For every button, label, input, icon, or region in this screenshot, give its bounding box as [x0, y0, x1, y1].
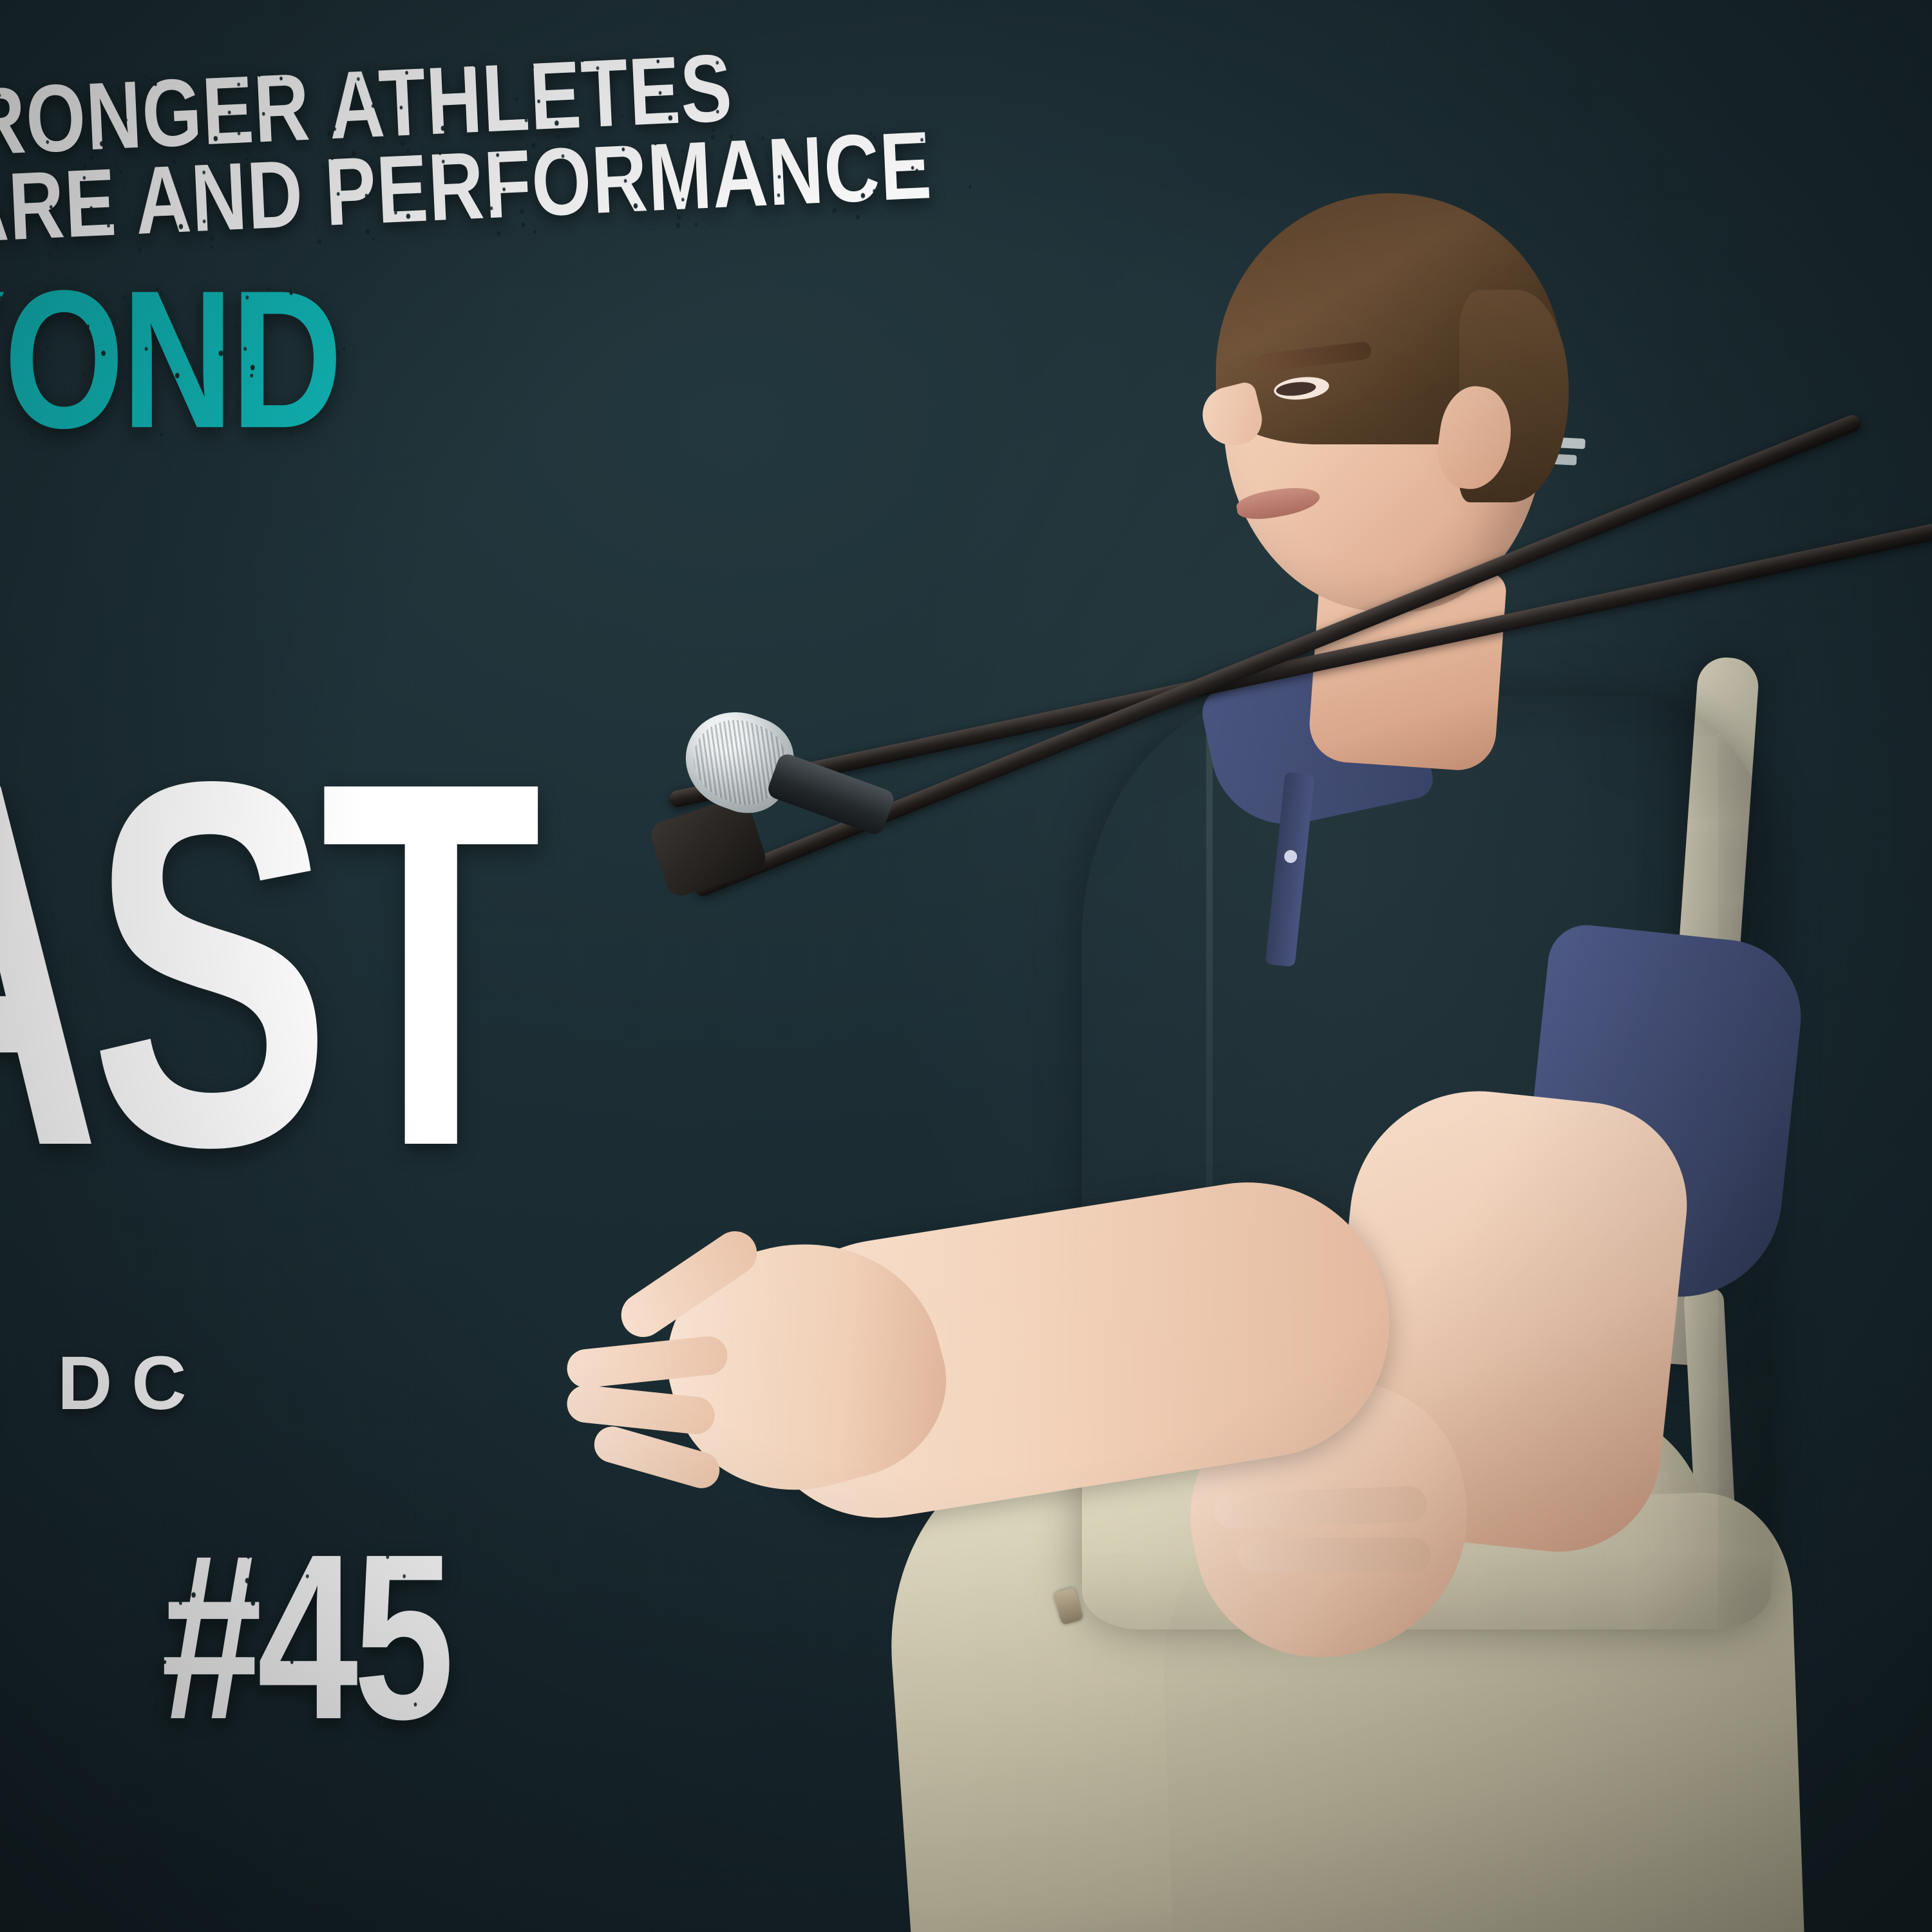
title-block: TRONGER ATHLETES CARE AND PERFORMANCE YO… — [0, 0, 1385, 1932]
brand-word: YOND — [0, 269, 340, 450]
show-word: AST — [0, 757, 531, 1172]
podcast-thumbnail: TRONGER ATHLETES CARE AND PERFORMANCE YO… — [0, 0, 1932, 1932]
guest-credentials: P, DC — [0, 1340, 206, 1427]
episode-number: #45 — [161, 1501, 450, 1772]
